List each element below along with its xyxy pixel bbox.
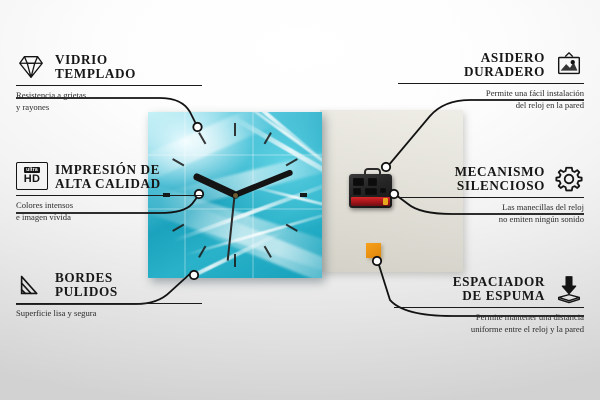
- feature-title-line1: ASIDERO: [464, 51, 545, 65]
- feature-title-line2: PULIDOS: [55, 285, 118, 299]
- feature-divider: [398, 197, 584, 198]
- feature-title-line2: DURADERO: [464, 65, 545, 79]
- feature-title-line1: IMPRESIÓN DE: [55, 163, 161, 177]
- feature-description: Superficie lisa y segura: [16, 308, 202, 319]
- feature-asidero-duradero: ASIDERO DURADERO Permite una fácil insta…: [398, 50, 584, 111]
- feature-bordes-pulidos: BORDES PULIDOS Superficie lisa y segura: [16, 270, 202, 320]
- feature-vidrio-templado: VIDRIO TEMPLADO Resistencia a grietas y …: [16, 52, 202, 113]
- mechanism-body: [349, 174, 392, 208]
- feature-impresion-alta-calidad: ultraHD IMPRESIÓN DE ALTA CALIDAD Colore…: [16, 162, 202, 223]
- picture-hanger-icon: [554, 50, 584, 80]
- mechanism-battery: [351, 197, 390, 206]
- diamond-icon: [16, 52, 46, 82]
- feature-title-line1: ESPACIADOR: [453, 275, 545, 289]
- feature-description: Las manecillas del reloj no emiten ningú…: [398, 202, 584, 225]
- clock-mechanism: [349, 168, 392, 208]
- feature-divider: [16, 303, 202, 304]
- feature-description: Permite una fácil instalación del reloj …: [398, 88, 584, 111]
- feature-title-line2: SILENCIOSO: [455, 179, 545, 193]
- feature-title-line2: DE ESPUMA: [453, 289, 545, 303]
- feature-title-line1: VIDRIO: [55, 53, 136, 67]
- feature-divider: [394, 307, 584, 308]
- feature-divider: [398, 83, 584, 84]
- feature-title-line1: BORDES: [55, 271, 118, 285]
- gear-icon: [554, 164, 584, 194]
- polished-edges-icon: [16, 270, 46, 300]
- feature-description: Permite mantener una distancia uniforme …: [394, 312, 584, 335]
- clock-center-hub: [233, 193, 238, 198]
- feature-title-line1: MECANISMO: [455, 165, 545, 179]
- feature-title-line2: TEMPLADO: [55, 67, 136, 81]
- foam-spacer-icon: [554, 274, 584, 304]
- feature-description: Colores intensos e imagen vívida: [16, 200, 202, 223]
- infographic-stage: VIDRIO TEMPLADO Resistencia a grietas y …: [0, 0, 600, 400]
- feature-espaciador-espuma: ESPACIADOR DE ESPUMA Permite mantener un…: [394, 274, 584, 335]
- feature-mecanismo-silencioso: MECANISMO SILENCIOSO Las manecillas del …: [398, 164, 584, 225]
- feature-divider: [16, 195, 202, 196]
- feature-description: Resistencia a grietas y rayones: [16, 90, 202, 113]
- feature-title-line2: ALTA CALIDAD: [55, 177, 161, 191]
- ultra-hd-icon: ultraHD: [16, 162, 46, 192]
- feature-divider: [16, 85, 202, 86]
- foam-spacer-sample: [366, 243, 381, 258]
